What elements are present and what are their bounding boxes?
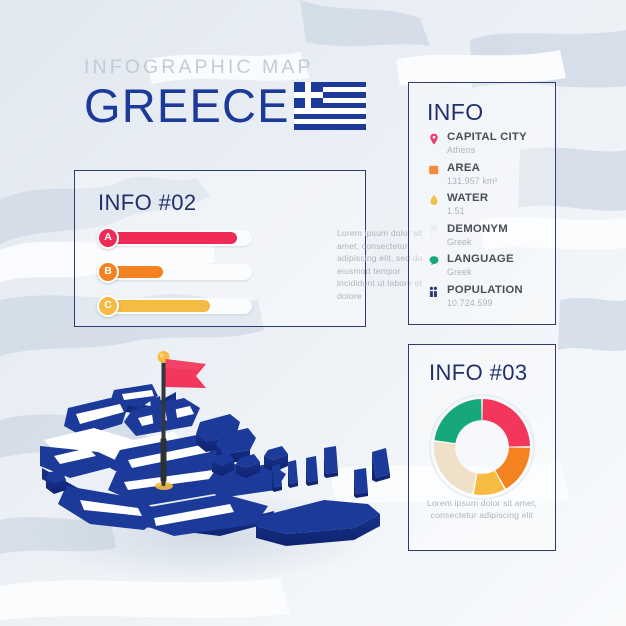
page-title: GREECE xyxy=(84,82,290,129)
fact-value: 1.51 xyxy=(447,205,552,217)
fact-label: AREA xyxy=(447,162,552,175)
donut-segment[interactable] xyxy=(482,399,530,447)
fact-row: WATER1.51 xyxy=(426,192,552,217)
bar-chart: A B C xyxy=(97,227,252,329)
infographic-poster: INFOGRAPHIC MAP GREECE INFO #02 A xyxy=(0,0,626,626)
donut-segment[interactable] xyxy=(434,442,477,494)
donut-chart xyxy=(428,393,536,501)
fact-row: DEMONYMGreek xyxy=(426,223,552,248)
fact-value: Greek xyxy=(447,236,552,248)
header-kicker: INFOGRAPHIC MAP xyxy=(84,58,384,78)
square-icon xyxy=(428,163,440,175)
fact-label: CAPITAL CITY xyxy=(447,131,552,144)
greece-flag-icon xyxy=(294,82,366,130)
fact-row: POPULATION10.724.599 xyxy=(426,284,552,309)
header-title-row: GREECE xyxy=(84,82,384,130)
greece-3d-map[interactable] xyxy=(24,340,394,590)
bar-badge-a: A xyxy=(97,227,119,249)
fact-row: AREA131.957 km² xyxy=(426,162,552,187)
fact-row: CAPITAL CITYAthens xyxy=(426,131,552,156)
info-02-title: INFO #02 xyxy=(98,192,197,214)
fact-value: Greek xyxy=(447,266,552,278)
donut-chart-svg xyxy=(428,393,536,501)
bar-row[interactable]: A xyxy=(97,227,252,249)
bar-fill-a xyxy=(108,232,237,244)
info-03-title: INFO #03 xyxy=(429,362,528,384)
bar-row[interactable]: B xyxy=(97,261,252,283)
poster-header: INFOGRAPHIC MAP GREECE xyxy=(84,58,384,130)
water-drop-icon xyxy=(428,193,440,205)
fact-label: LANGUAGE xyxy=(447,253,552,266)
info-03-caption: Lorem ipsum dolor sit amet, consectetur … xyxy=(423,497,541,522)
fact-row: LANGUAGEGreek xyxy=(426,253,552,278)
info-facts-panel: INFO CAPITAL CITYAthensAREA131.957 km²WA… xyxy=(408,82,556,325)
bar-badge-b: B xyxy=(97,261,119,283)
flag-icon xyxy=(428,224,440,236)
donut-segment[interactable] xyxy=(434,399,481,443)
info-03-panel: INFO #03 Lorem ipsum dolor sit amet, con… xyxy=(408,344,556,551)
facts-list: CAPITAL CITYAthensAREA131.957 km²WATER1.… xyxy=(426,131,552,314)
greece-map-svg xyxy=(24,340,394,590)
info-02-panel: INFO #02 A B C Lorem ipsum dolor sit ame… xyxy=(74,170,366,327)
fact-value: Athens xyxy=(447,144,552,156)
fact-value: 10.724.599 xyxy=(447,297,552,309)
fact-value: 131.957 km² xyxy=(447,175,552,187)
bar-badge-c: C xyxy=(97,295,119,317)
info-facts-title: INFO xyxy=(427,101,484,124)
fact-label: WATER xyxy=(447,192,552,205)
speech-dot-icon xyxy=(428,254,440,266)
bar-row[interactable]: C xyxy=(97,295,252,317)
bar-fill-c xyxy=(108,300,210,312)
fact-label: DEMONYM xyxy=(447,223,552,236)
fact-label: POPULATION xyxy=(447,284,552,297)
people-icon xyxy=(428,285,440,297)
map-pin-icon xyxy=(428,132,440,144)
